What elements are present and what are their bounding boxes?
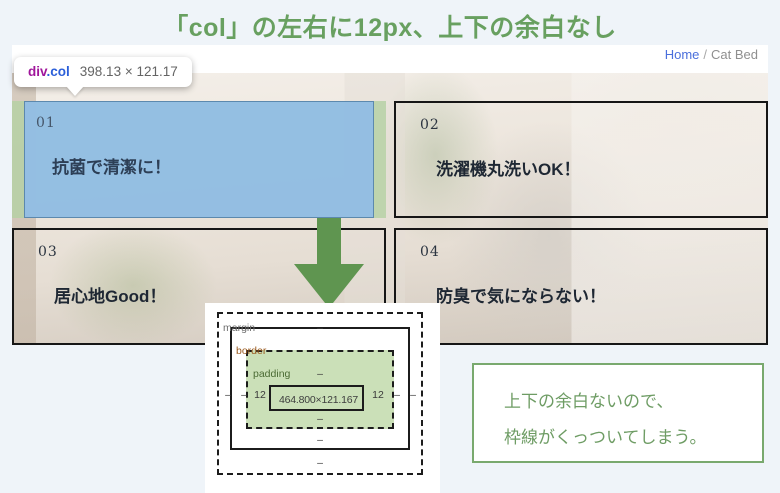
breadcrumb-separator: /: [699, 47, 711, 62]
breadcrumb-current: Cat Bed: [711, 47, 758, 62]
cell-text: 洗濯機丸洗いOK！: [436, 155, 581, 180]
page-title: 「col」の左右に12px、上下の余白なし: [0, 8, 780, 44]
tooltip-pointer-icon: [66, 86, 84, 96]
box-model-border-right[interactable]: –: [387, 389, 407, 401]
annotation-note-box: 上下の余白ないので、 枠線がくっついてしまう。: [472, 363, 764, 463]
breadcrumb-link-home[interactable]: Home: [665, 47, 700, 62]
cell-text: 居心地Good！: [54, 282, 166, 307]
grid-cell-04[interactable]: 04 防臭で気にならない！: [394, 228, 768, 345]
box-model-margin-top[interactable]: –: [300, 322, 340, 334]
note-line-1: 上下の余白ないので、: [504, 387, 673, 412]
box-model-padding-right[interactable]: 12: [367, 389, 389, 401]
grid-cell-02[interactable]: 02 洗濯機丸洗いOK！: [394, 101, 768, 218]
devtools-box-model: margin border padding – – – – – – – – – …: [205, 303, 440, 493]
cell-text: 防臭で気にならない！: [436, 282, 606, 307]
browser-content-area: Home/Cat Bed 01 抗菌で清潔に！ 02 洗濯機丸洗いOK！ 03 …: [12, 45, 768, 345]
box-model-padding-bottom[interactable]: –: [300, 413, 340, 425]
box-model-padding-left[interactable]: 12: [249, 389, 271, 401]
breadcrumb: Home/Cat Bed: [665, 47, 758, 62]
box-model-content-size: 464.800×121.167: [271, 387, 366, 413]
box-model-border-label: border: [236, 345, 266, 357]
cell-number: 03: [38, 244, 58, 260]
box-model-padding-label: padding: [253, 368, 290, 380]
box-model-margin-bottom[interactable]: –: [300, 457, 340, 469]
down-arrow-icon: [288, 218, 370, 310]
box-model-padding-top[interactable]: –: [300, 368, 340, 380]
box-model-border-top[interactable]: –: [300, 345, 340, 357]
devtools-dimensions: 398.13 × 121.17: [80, 64, 178, 79]
cell-number: 04: [420, 244, 440, 260]
cell-number: 02: [420, 117, 440, 133]
devtools-class-name: .col: [47, 64, 70, 79]
box-model-margin-label: margin: [223, 322, 255, 334]
note-line-2: 枠線がくっついてしまう。: [504, 423, 706, 448]
box-model-border-bottom[interactable]: –: [300, 434, 340, 446]
devtools-element-tooltip: div.col398.13 × 121.17: [14, 57, 192, 87]
cell-number: 01: [36, 115, 56, 131]
box-model-content-box[interactable]: 464.800×121.167: [269, 385, 364, 411]
grid-cell-01[interactable]: 01 抗菌で清潔に！: [12, 101, 386, 218]
devtools-tag-name: div: [28, 64, 47, 79]
cell-text: 抗菌で清潔に！: [52, 153, 171, 178]
